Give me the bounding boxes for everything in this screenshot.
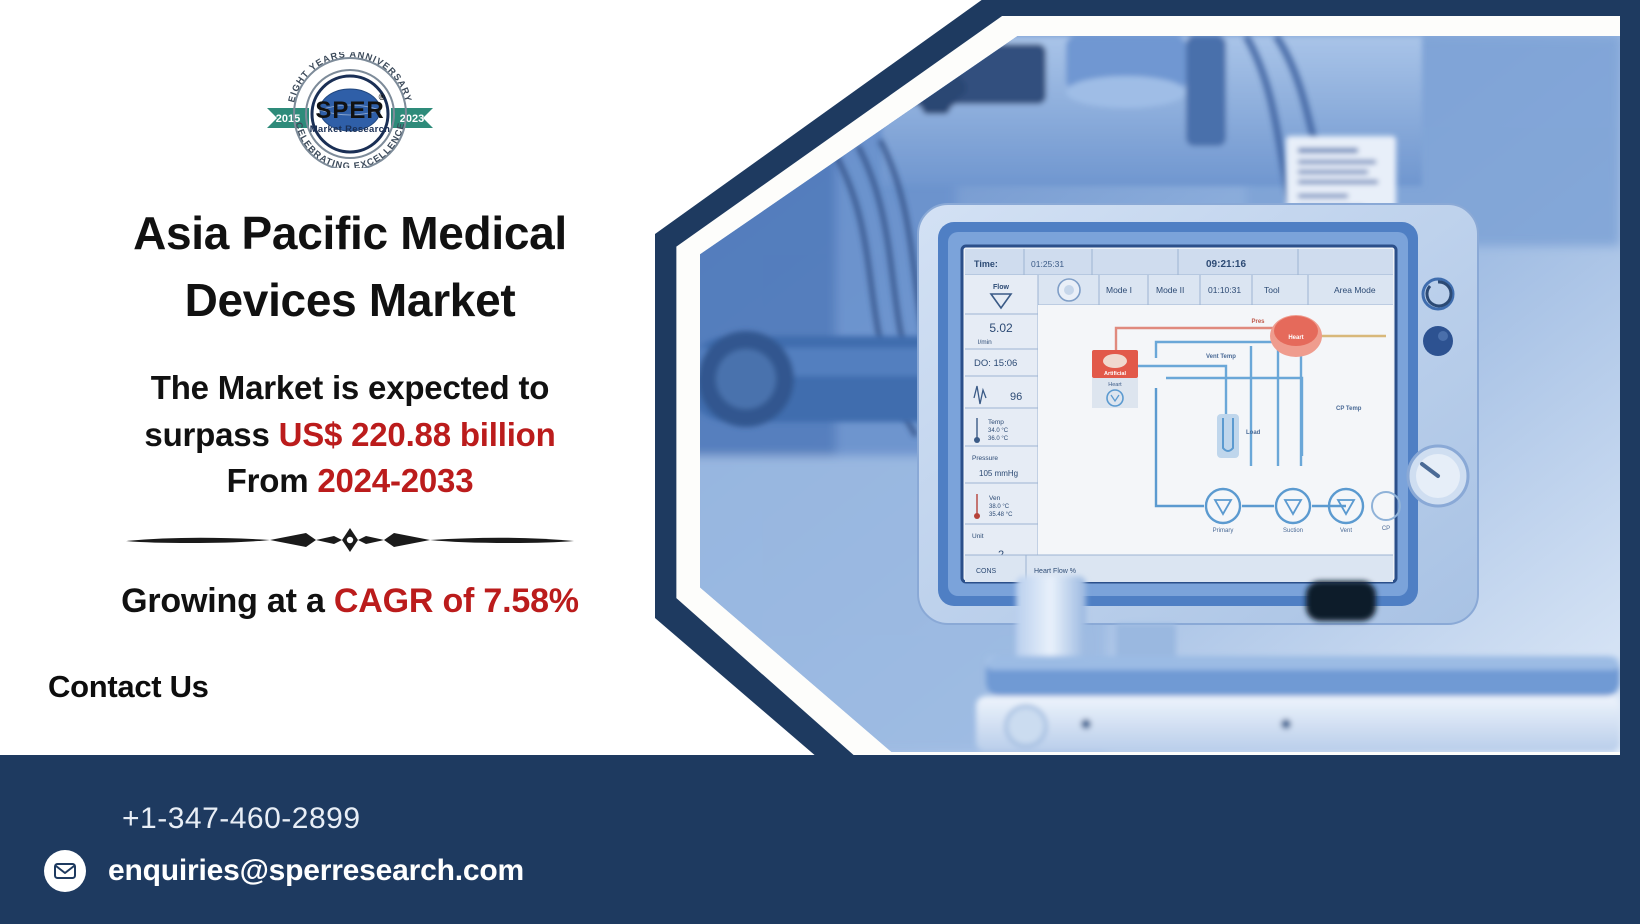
contact-footer-bar: +1-347-460-2899 enquiries@sperresearch.c… xyxy=(0,755,1640,924)
svg-text:34.0 °C: 34.0 °C xyxy=(988,428,1009,434)
right-edge-accent-strip xyxy=(1626,0,1640,792)
svg-text:Flow: Flow xyxy=(993,284,1009,291)
headline-line-2: Devices Market xyxy=(185,274,516,326)
svg-text:Pres: Pres xyxy=(1251,319,1265,325)
svg-text:38.0 °C: 38.0 °C xyxy=(989,504,1010,510)
footer-email-row[interactable]: enquiries@sperresearch.com xyxy=(44,845,1640,897)
footer-email-address[interactable]: enquiries@sperresearch.com xyxy=(108,854,524,888)
svg-text:Artificial: Artificial xyxy=(1104,371,1126,377)
subhead-line-3-plain: From xyxy=(227,462,318,499)
subhead-line-1: The Market is expected to xyxy=(151,369,549,406)
svg-text:Pressure: Pressure xyxy=(972,455,998,462)
svg-text:Time:: Time: xyxy=(974,259,998,269)
svg-text:Heart Flow %: Heart Flow % xyxy=(1034,568,1076,575)
logo-wordmark: SPER xyxy=(315,97,384,124)
svg-text:Tool: Tool xyxy=(1264,285,1280,295)
page-title: Asia Pacific Medical Devices Market xyxy=(40,200,660,333)
svg-text:l/min: l/min xyxy=(978,339,992,346)
svg-text:Suction: Suction xyxy=(1283,528,1303,534)
logo-tagline: Market Research xyxy=(310,124,391,135)
svg-text:Heart: Heart xyxy=(1108,382,1122,388)
svg-text:96: 96 xyxy=(1010,391,1022,403)
svg-text:Ven: Ven xyxy=(989,495,1001,502)
svg-text:CP Temp: CP Temp xyxy=(1336,406,1362,412)
svg-text:105 mmHg: 105 mmHg xyxy=(979,469,1018,478)
svg-text:Vent Temp: Vent Temp xyxy=(1206,354,1236,360)
market-value-statement: The Market is expected to surpass US$ 22… xyxy=(30,365,670,504)
svg-text:01:25:31: 01:25:31 xyxy=(1031,259,1064,269)
envelope-icon xyxy=(44,850,86,892)
sper-logo-badge: 2015 2023 EIGHT YEARS ANNIVERSARY CELEBR… xyxy=(265,52,435,168)
svg-text:Vent: Vent xyxy=(1340,528,1352,534)
svg-text:36.0 °C: 36.0 °C xyxy=(988,436,1009,442)
svg-text:DO: 15:06: DO: 15:06 xyxy=(974,358,1017,369)
svg-text:CP: CP xyxy=(1382,526,1390,532)
registered-mark-icon: ® xyxy=(379,92,386,102)
hero-image-panel: Time: 01:25:31 09:21:16 xyxy=(640,0,1640,790)
svg-text:5.02: 5.02 xyxy=(989,321,1013,335)
svg-text:Load: Load xyxy=(1246,430,1261,436)
footer-phone-number[interactable]: +1-347-460-2899 xyxy=(122,802,361,836)
svg-text:Mode II: Mode II xyxy=(1156,285,1184,295)
svg-text:Area Mode: Area Mode xyxy=(1334,285,1376,295)
svg-text:35.48 °C: 35.48 °C xyxy=(989,512,1013,518)
ornamental-divider xyxy=(120,524,580,554)
cagr-statement: Growing at a CAGR of 7.58% xyxy=(30,582,670,621)
contact-us-heading: Contact Us xyxy=(30,669,670,705)
poster-canvas: 2015 2023 EIGHT YEARS ANNIVERSARY CELEBR… xyxy=(0,0,1640,924)
cagr-accent: CAGR of 7.58% xyxy=(334,582,579,620)
svg-text:Heart: Heart xyxy=(1288,335,1303,341)
subhead-line-2-plain: surpass xyxy=(144,416,278,453)
cagr-plain: Growing at a xyxy=(121,582,334,620)
svg-text:Unit: Unit xyxy=(972,533,984,540)
svg-text:Primary: Primary xyxy=(1213,528,1234,534)
svg-text:01:10:31: 01:10:31 xyxy=(1208,285,1241,295)
market-value-accent: US$ 220.88 billion xyxy=(279,416,556,453)
svg-text:Temp: Temp xyxy=(988,419,1004,426)
svg-text:Mode I: Mode I xyxy=(1106,285,1132,295)
svg-text:CONS: CONS xyxy=(976,568,997,575)
headline-line-1: Asia Pacific Medical xyxy=(133,207,567,259)
forecast-period-accent: 2024-2033 xyxy=(317,462,473,499)
left-content-column: 2015 2023 EIGHT YEARS ANNIVERSARY CELEBR… xyxy=(0,0,700,755)
footer-phone-row[interactable]: +1-347-460-2899 xyxy=(44,793,1640,845)
svg-text:09:21:16: 09:21:16 xyxy=(1206,259,1246,270)
